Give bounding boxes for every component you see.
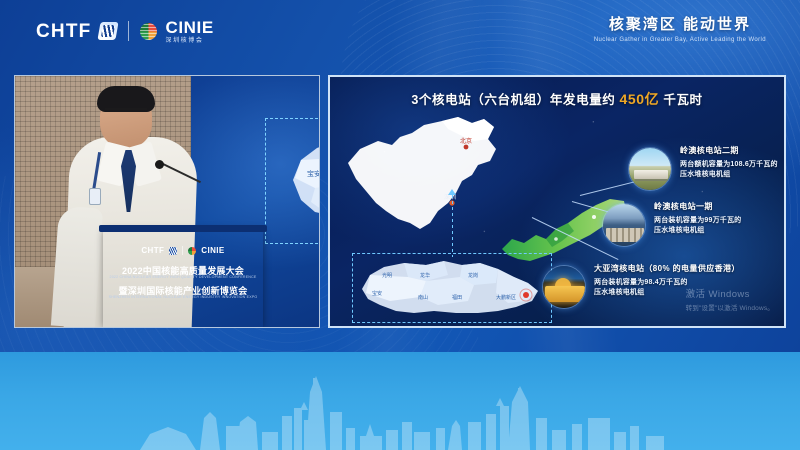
speaker-arm [51, 206, 103, 328]
svg-text:宝安: 宝安 [307, 169, 320, 178]
podium-chtf-wordmark: CHTF [141, 246, 164, 255]
dayabay-text: 大亚湾核电站（80% 的电量供应香港） 两台装机容量为98.4万千瓦的 压水堆核… [594, 263, 786, 298]
podium-logo-divider [182, 246, 183, 255]
event-tagline: 核聚湾区 能动世界 Nuclear Gather in Greater Bay,… [594, 13, 766, 43]
slide-title-prefix: 3个核电站（六台机组）年发电量约 [411, 93, 619, 107]
speaker-badge [89, 188, 101, 205]
tagline-chinese: 核聚湾区 能动世界 [594, 13, 766, 34]
podium-globe-icon [188, 247, 196, 255]
lingao2-line2: 压水堆核电机组 [680, 170, 786, 180]
speaker-video-panel[interactable]: 光明 宝安 龙华 南山 福田 CHTF CI [14, 75, 320, 328]
lingao1-line2: 压水堆核电机组 [654, 226, 786, 236]
cinie-logo: CINIE 深圳核博会 [165, 19, 213, 44]
podium-chtf-emblem-icon [169, 247, 177, 255]
background-bottom-band [0, 352, 800, 450]
cinie-wordmark-cn: 深圳核博会 [165, 38, 213, 44]
callout-lingao-phase1[interactable]: 岭澳核电站一期 两台装机容量为99万千瓦的 压水堆核电机组 [602, 201, 786, 251]
tagline-english: Nuclear Gather in Greater Bay, Active Le… [594, 37, 766, 43]
logo-divider [128, 21, 129, 41]
podium-cinie-wordmark: CINIE [201, 246, 224, 255]
cinie-globe-icon [140, 23, 157, 40]
map-leader-line [452, 195, 453, 257]
dayabay-heading: 大亚湾核电站（80% 的电量供应香港） [594, 263, 786, 274]
svg-text:宝安: 宝安 [372, 290, 382, 297]
lingao2-text: 岭澳核电站二期 两台额机容量为108.6万千瓦的 压水堆核电机组 [680, 145, 786, 180]
lingao2-thumbnail [628, 147, 672, 191]
chtf-emblem-icon [98, 22, 119, 40]
svg-text:北京: 北京 [460, 137, 472, 145]
podium-headline-secondary-en: SHENZHEN INTERNATIONAL NUCLEAR ENERGY IN… [103, 295, 263, 299]
lingao1-line1: 两台装机容量为99万千瓦的 [654, 216, 786, 226]
svg-text:福田: 福田 [452, 294, 462, 301]
mini-shenzhen-map: 光明 宝安 龙华 南山 福田 [281, 124, 320, 239]
lingao1-photo [603, 204, 645, 246]
dayabay-photo [543, 266, 585, 308]
svg-text:大鹏新区: 大鹏新区 [496, 294, 516, 301]
lingao1-text: 岭澳核电站一期 两台装机容量为99万千瓦的 压水堆核电机组 [654, 201, 786, 236]
shenzhen-district-map: 光明 宝安 龙华 龙岗 南山 福田 大鹏新区 [356, 255, 552, 321]
podium-logo-group: CHTF CINIE [103, 246, 263, 255]
podium: CHTF CINIE 2022中国核能高质量发展大会 2022 CHINA NU… [103, 230, 263, 327]
broadcast-stage: CHTF CINIE 深圳核博会 核聚湾区 能动世界 Nuclear Gathe… [0, 0, 800, 450]
dayabay-line1: 两台装机容量为98.4万千瓦的 [594, 278, 786, 288]
lingao1-heading: 岭澳核电站一期 [654, 201, 786, 212]
dayabay-line2: 压水堆核电机组 [594, 288, 786, 298]
microphone-icon [155, 160, 164, 169]
callout-daya-bay[interactable]: 大亚湾核电站（80% 的电量供应香港） 两台装机容量为98.4万千瓦的 压水堆核… [542, 263, 786, 315]
event-logo-group: CHTF CINIE 深圳核博会 [36, 18, 214, 44]
lingao2-line1: 两台额机容量为108.6万千瓦的 [680, 160, 786, 170]
lingao1-thumbnail [602, 203, 646, 247]
slide-title-highlight: 450亿 [620, 91, 660, 107]
svg-text:南山: 南山 [418, 294, 428, 301]
lingao2-photo [629, 148, 671, 190]
slide-title: 3个核电站（六台机组）年发电量约 450亿 千瓦时 [330, 89, 784, 109]
callout-lingao-phase2[interactable]: 岭澳核电站二期 两台额机容量为108.6万千瓦的 压水堆核电机组 [628, 145, 786, 195]
podium-headline-primary-en: 2022 CHINA NUCLEAR ENERGY HIGH QUALITY D… [103, 275, 263, 279]
svg-text:龙华: 龙华 [420, 272, 430, 279]
dayabay-thumbnail [542, 265, 586, 309]
slide-title-suffix: 千瓦时 [659, 93, 702, 107]
svg-text:光明: 光明 [382, 272, 392, 279]
svg-text:龙岗: 龙岗 [468, 272, 478, 279]
chtf-wordmark: CHTF [36, 22, 91, 41]
cinie-wordmark: CINIE [165, 19, 213, 36]
podium-top-edge [99, 225, 267, 232]
lingao2-heading: 岭澳核电站二期 [680, 145, 786, 156]
city-skyline-silhouette [0, 372, 800, 450]
speaker-glasses [105, 108, 147, 116]
presentation-slide[interactable]: 3个核电站（六台机组）年发电量约 450亿 千瓦时 北京 深圳 [328, 75, 786, 328]
